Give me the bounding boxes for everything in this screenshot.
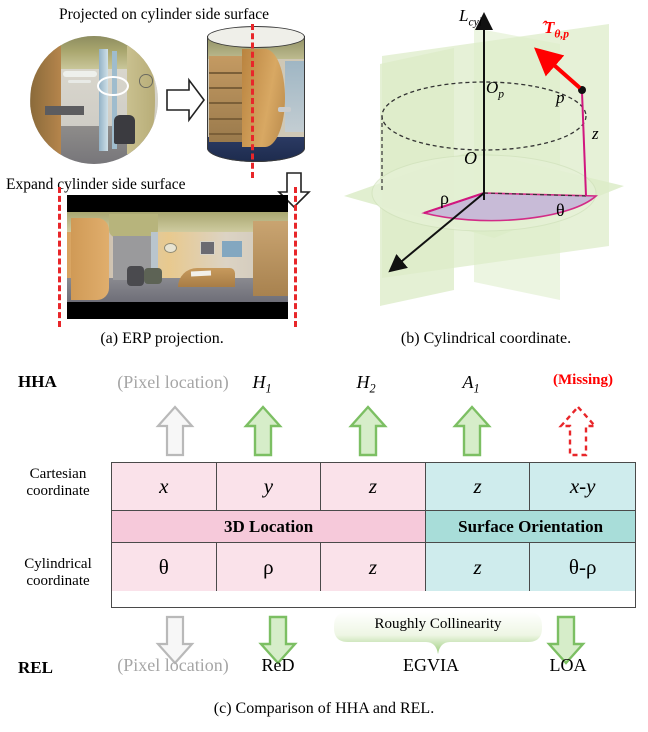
panel-cylindrical-coordinate: Lcyl Op p O z ρ θ ̂Tθ,p (b) Cylindrical … (324, 0, 648, 360)
cell-cylindrical-z: z (321, 543, 426, 591)
hha-row-label: HHA (18, 372, 98, 392)
erp-left-seam-dashed-line (58, 187, 61, 327)
band-3d-location: 3D Location (112, 511, 426, 542)
caption-panel-b: (b) Cylindrical coordinate. (324, 330, 648, 348)
block-arrow-right-icon (163, 72, 207, 128)
rel-row-label: REL (18, 658, 98, 678)
panel-erp-projection: Projected on cylinder side surface (0, 0, 324, 360)
cell-cylindrical-theta: θ (112, 543, 217, 591)
panel-a-title-top: Projected on cylinder side surface (14, 6, 314, 24)
cell-cylindrical-theta-rho: θ-ρ (530, 543, 635, 591)
label-theta: θ (556, 200, 565, 221)
rel-col-loa: LOA (528, 655, 608, 676)
cell-cylindrical-z2: z (426, 543, 531, 591)
label-tangent-vector: ̂Tθ,p (544, 18, 569, 40)
erp-panorama-image (67, 195, 288, 319)
arrow-up-green-2 (348, 404, 388, 463)
cylindrical-coordinate-diagram (324, 0, 648, 330)
caption-panel-c: (c) Comparison of HHA and REL. (0, 700, 648, 718)
cell-cartesian-y: y (217, 463, 322, 510)
hha-col-a1: A1 (437, 372, 505, 397)
fisheye-sphere-image (30, 36, 158, 164)
rel-col-pixel-location: (Pixel location) (108, 655, 238, 676)
arrow-up-red-dashed (558, 404, 598, 463)
panel-a-title-mid: Expand cylinder side surface (6, 176, 296, 194)
cell-cartesian-x: x (112, 463, 217, 510)
brace-label: Roughly Collinearity (334, 616, 542, 633)
arrow-up-green-3 (452, 404, 492, 463)
cartesian-coordinate-side-label: Cartesian coordinate (8, 466, 108, 501)
rel-col-red: ReD (238, 655, 318, 676)
label-o-p: Op (486, 78, 504, 100)
caption-panel-a: (a) ERP projection. (0, 330, 324, 348)
band-surface-orientation: Surface Orientation (426, 511, 635, 542)
axis-label-lcyl: Lcyl (459, 6, 482, 28)
rel-col-egvia: EGVIA (376, 655, 486, 676)
arrow-up-gray (155, 404, 195, 463)
hha-col-pixel-location: (Pixel location) (108, 372, 238, 393)
label-origin-o: O (464, 148, 477, 169)
label-point-p: p (556, 88, 565, 108)
table-row-cartesian: x y z z x-y (112, 463, 635, 511)
cylindrical-coordinate-side-label: Cylindrical coordinate (8, 556, 108, 591)
cell-cylindrical-rho: ρ (217, 543, 322, 591)
hha-col-h2: H2 (332, 372, 400, 397)
cylinder-projection-image (207, 26, 305, 172)
hha-col-missing: (Missing) (528, 372, 638, 389)
cell-cartesian-xy: x-y (530, 463, 635, 510)
table-row-bands: 3D Location Surface Orientation (112, 511, 635, 543)
comparison-table: x y z z x-y 3D Location Surface Orientat… (111, 462, 636, 608)
label-z-height: z (592, 124, 599, 144)
table-row-cylindrical: θ ρ z z θ-ρ (112, 543, 635, 591)
cell-cartesian-z: z (321, 463, 426, 510)
cell-cartesian-z2: z (426, 463, 531, 510)
cylinder-seam-dashed-line (251, 24, 254, 178)
arrow-up-green-1 (243, 404, 283, 463)
hha-col-h1: H1 (228, 372, 296, 397)
erp-right-seam-dashed-line (294, 187, 297, 327)
label-rho: ρ (440, 188, 449, 209)
